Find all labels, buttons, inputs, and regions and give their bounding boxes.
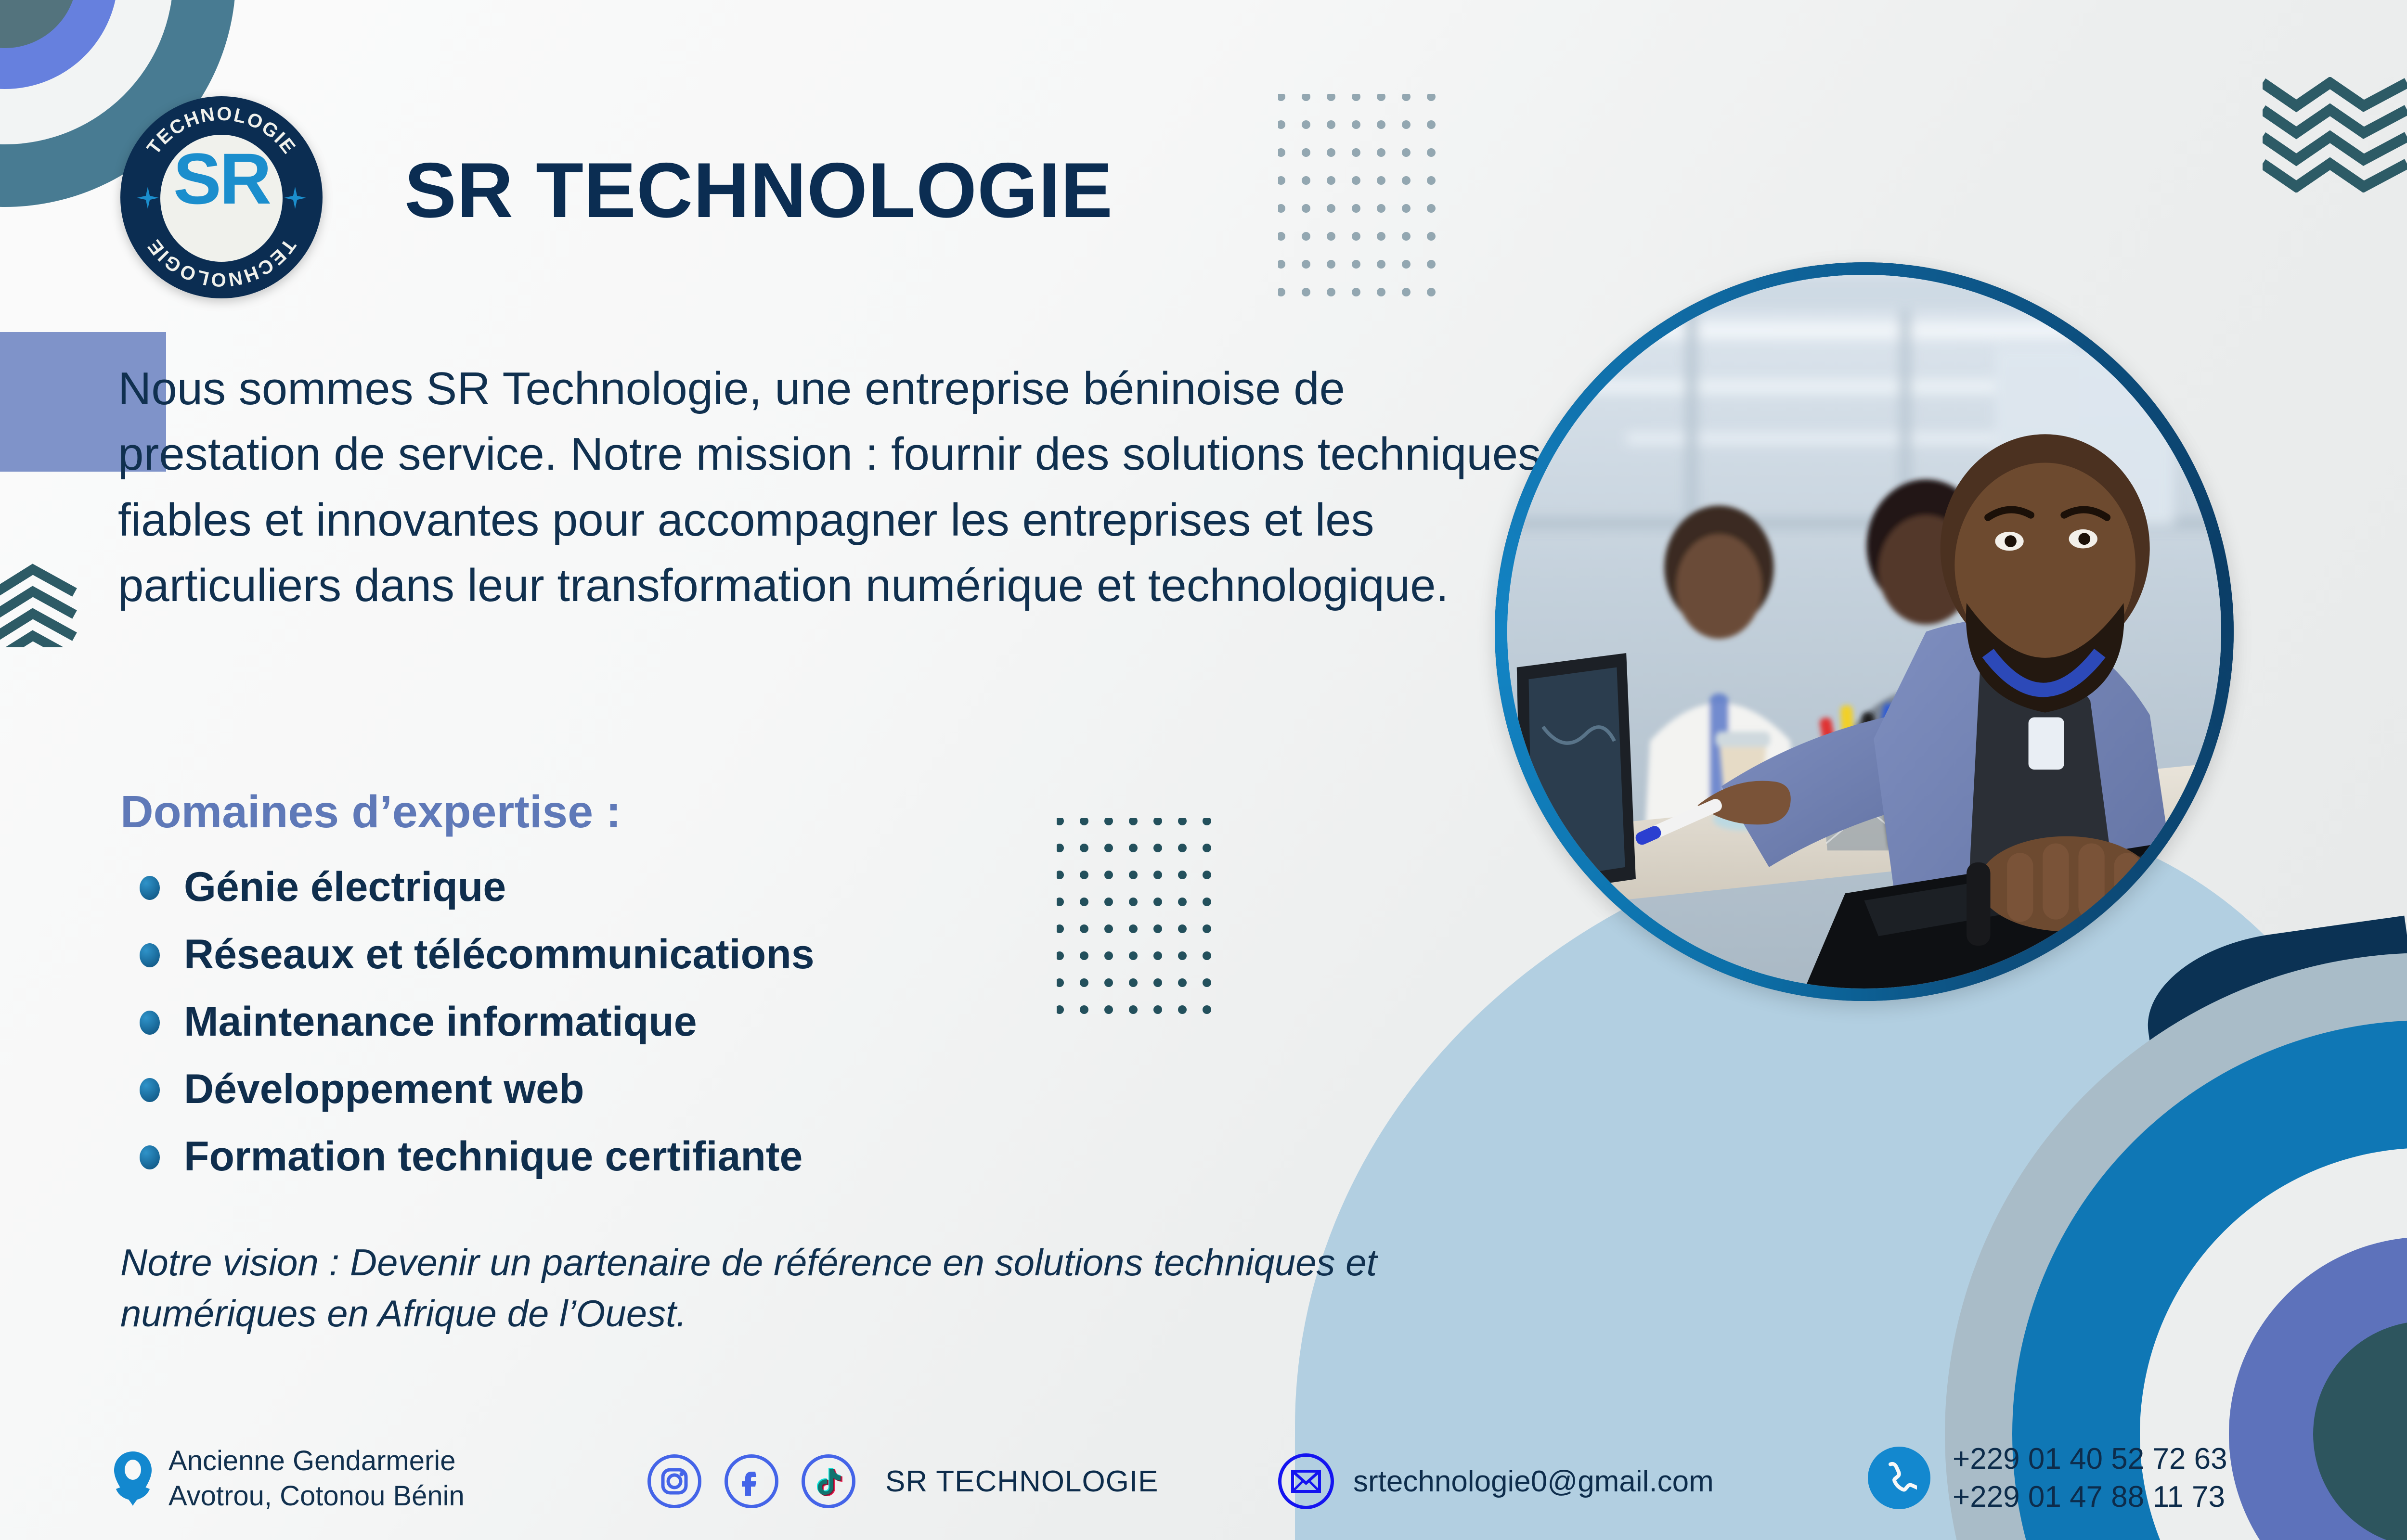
- vision-statement: Notre vision : Devenir un partenaire de …: [120, 1237, 1468, 1339]
- bullet-icon: [140, 943, 160, 967]
- instagram-icon[interactable]: [647, 1454, 701, 1508]
- footer-contact-bar: Ancienne Gendarmerie Avotrou, Cotonou Bé…: [0, 1396, 2407, 1540]
- phone-block: +229 01 40 52 72 63 +229 01 47 88 11 73: [1868, 1440, 2227, 1516]
- dot-grid-decoration-middle: [1057, 818, 1240, 1042]
- email-text: srtechnologie0@gmail.com: [1353, 1464, 1714, 1499]
- team-photo: [1495, 262, 2234, 1001]
- address-line-1: Ancienne Gendarmerie: [168, 1445, 455, 1476]
- bullet-icon: [140, 1078, 160, 1102]
- list-item: Formation technique certifiante: [126, 1136, 815, 1177]
- dot-grid-decoration-top: [1278, 94, 1471, 318]
- address-line-2: Avotrou, Cotonou Bénin: [168, 1480, 465, 1512]
- company-logo[interactable]: TECHNOLOGIE TECHNOLOGIE SR: [120, 96, 323, 298]
- list-item: Génie électrique: [126, 866, 815, 908]
- email-block[interactable]: srtechnologie0@gmail.com: [1278, 1453, 1714, 1509]
- address-block: Ancienne Gendarmerie Avotrou, Cotonou Bé…: [111, 1444, 465, 1514]
- expertise-list: Génie électrique Réseaux et télécommunic…: [126, 866, 815, 1203]
- zigzag-icon-top-right: [2263, 77, 2407, 192]
- address-text: Ancienne Gendarmerie Avotrou, Cotonou Bé…: [168, 1444, 465, 1514]
- expertise-item-label: Formation technique certifiante: [184, 1133, 802, 1180]
- tiktok-icon[interactable]: [802, 1454, 855, 1508]
- bullet-icon: [140, 876, 160, 900]
- social-block: SR TECHNOLOGIE: [647, 1454, 1159, 1508]
- facebook-icon[interactable]: [725, 1454, 778, 1508]
- photo-image: [1507, 275, 2221, 988]
- phone-number-2: +229 01 47 88 11 73: [1953, 1480, 2225, 1514]
- envelope-icon: [1278, 1453, 1334, 1509]
- expertise-item-label: Développement web: [184, 1066, 584, 1112]
- poster-canvas: TECHNOLOGIE TECHNOLOGIE SR SR TECHNOLOGI…: [0, 0, 2407, 1540]
- expertise-item-label: Réseaux et télécommunications: [184, 931, 815, 977]
- phone-number-1: +229 01 40 52 72 63: [1953, 1442, 2227, 1476]
- expertise-item-label: Génie électrique: [184, 864, 506, 910]
- phone-icon: [1868, 1447, 1930, 1509]
- list-item: Développement web: [126, 1068, 815, 1110]
- zigzag-icon-left: [0, 551, 101, 647]
- location-pin-icon: [111, 1450, 155, 1507]
- expertise-heading: Domaines d’expertise :: [120, 789, 621, 835]
- social-handle: SR TECHNOLOGIE: [885, 1464, 1159, 1499]
- intro-paragraph: Nous sommes SR Technologie, une entrepri…: [118, 356, 1543, 618]
- list-item: Réseaux et télécommunications: [126, 934, 815, 975]
- list-item: Maintenance informatique: [126, 1001, 815, 1042]
- logo-initials: SR: [120, 142, 323, 215]
- page-title: SR TECHNOLOGIE: [404, 152, 1113, 230]
- phone-text: +229 01 40 52 72 63 +229 01 47 88 11 73: [1953, 1440, 2227, 1516]
- bullet-icon: [140, 1011, 160, 1035]
- expertise-item-label: Maintenance informatique: [184, 999, 697, 1045]
- bullet-icon: [140, 1145, 160, 1169]
